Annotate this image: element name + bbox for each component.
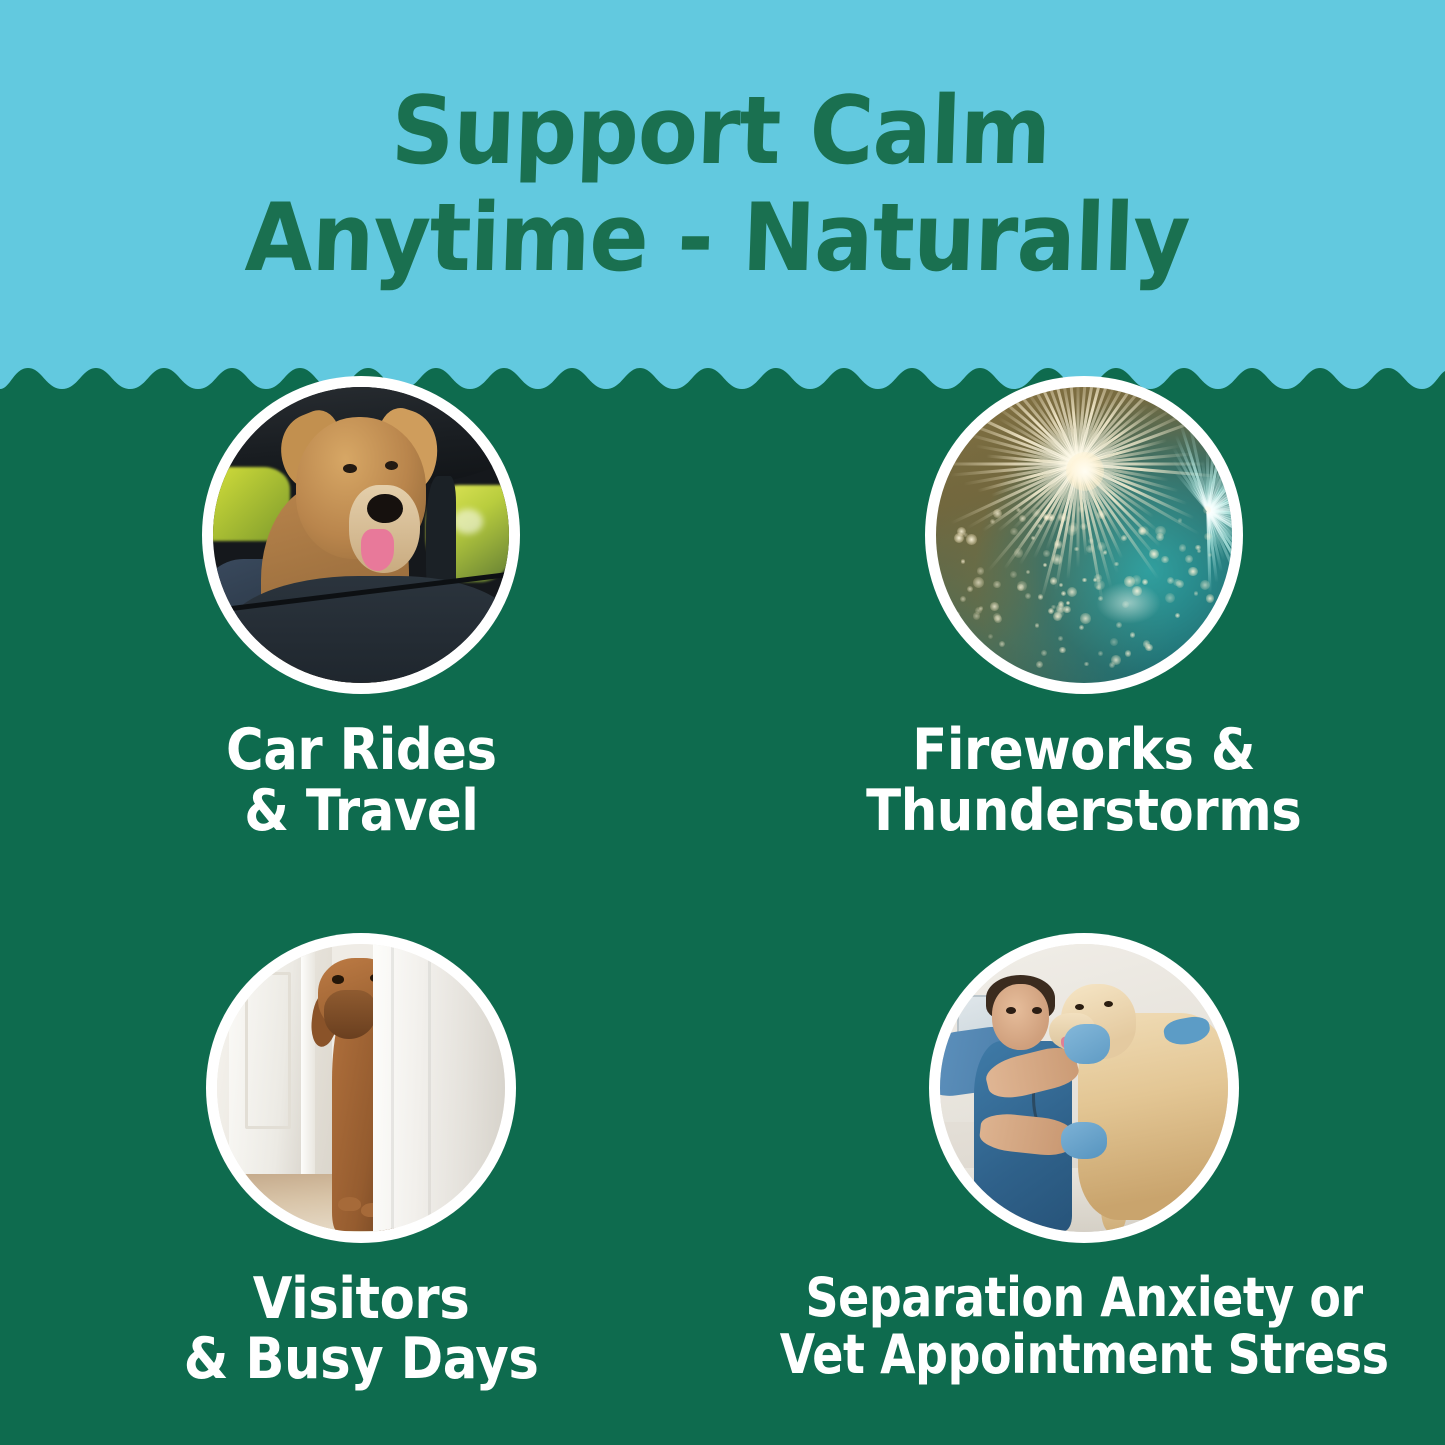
caption-line-2: Vet Appointment Stress [779, 1326, 1388, 1384]
photo-frame [929, 933, 1239, 1243]
photo-frame [202, 376, 520, 694]
use-case-card-car-rides: Car Rides & Travel [0, 372, 723, 909]
use-case-caption: Visitors & Busy Days [184, 1269, 539, 1391]
page-title-line-1: Support Calm [47, 78, 1394, 185]
photo-fireworks [936, 387, 1232, 683]
page-title-line-2: Anytime - Naturally [44, 185, 1391, 292]
caption-line-1: Separation Anxiety or [779, 1269, 1388, 1327]
photo-dog-at-doorway [217, 944, 505, 1232]
caption-line-2: & Busy Days [184, 1329, 539, 1390]
caption-line-1: Visitors [184, 1269, 539, 1330]
photo-dog-in-car [213, 387, 509, 683]
caption-line-2: Thunderstorms [866, 781, 1301, 842]
use-case-caption: Separation Anxiety or Vet Appointment St… [779, 1269, 1388, 1385]
caption-line-1: Car Rides [226, 720, 497, 781]
photo-frame [925, 376, 1243, 694]
use-case-grid: Car Rides & Travel Fireworks & Thunderst… [0, 372, 1445, 1445]
use-case-caption: Car Rides & Travel [226, 720, 497, 842]
photo-vet-with-dog [940, 944, 1228, 1232]
use-case-card-fireworks: Fireworks & Thunderstorms [723, 372, 1445, 909]
caption-line-1: Fireworks & [866, 720, 1301, 781]
photo-frame [206, 933, 516, 1243]
use-case-card-vet-stress: Separation Anxiety or Vet Appointment St… [723, 909, 1445, 1445]
page-title: Support Calm Anytime - Naturally [44, 78, 1395, 292]
use-case-card-visitors: Visitors & Busy Days [0, 909, 723, 1445]
use-case-caption: Fireworks & Thunderstorms [866, 720, 1301, 842]
caption-line-2: & Travel [226, 781, 497, 842]
